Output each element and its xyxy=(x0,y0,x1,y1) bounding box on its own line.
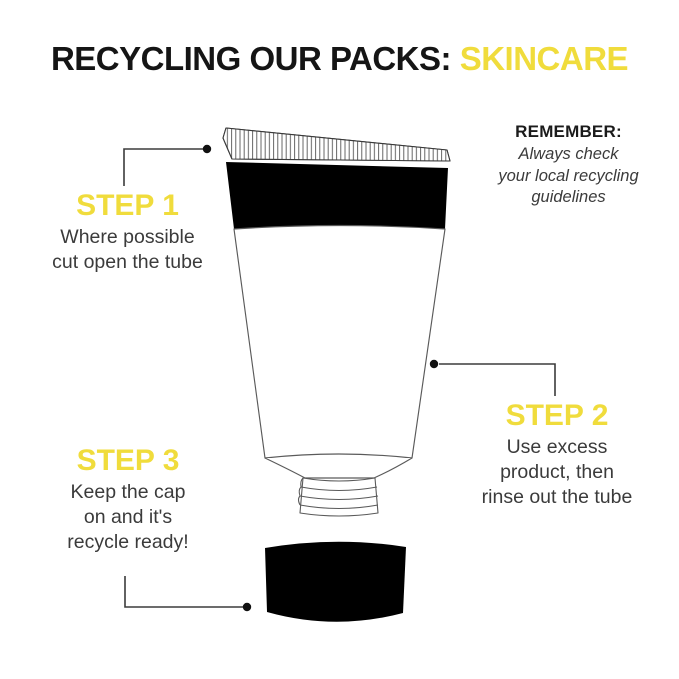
step-3: STEP 3 Keep the cap on and it's recycle … xyxy=(14,445,242,555)
leader-line-step3 xyxy=(125,576,251,611)
tube-body xyxy=(234,226,445,459)
step-1: STEP 1 Where possible cut open the tube xyxy=(10,190,245,275)
tube-crimp-seal xyxy=(218,124,458,166)
step-3-line-1: Keep the cap xyxy=(14,480,242,505)
step-2-line-3: rinse out the tube xyxy=(443,485,671,510)
page-title-accent: SKINCARE xyxy=(460,40,628,77)
step-2-heading: STEP 2 xyxy=(443,400,671,432)
tube-shoulder xyxy=(265,458,412,478)
remember-heading: REMEMBER: xyxy=(466,122,671,142)
infographic-canvas: RECYCLING OUR PACKS: SKINCARE xyxy=(0,0,679,679)
page-title: RECYCLING OUR PACKS: SKINCARE xyxy=(0,40,679,78)
step-3-line-2: on and it's xyxy=(14,505,242,530)
step-3-heading: STEP 3 xyxy=(14,445,242,477)
tube-threaded-neck xyxy=(299,478,379,516)
step-1-line-2: cut open the tube xyxy=(10,250,245,275)
step-2-body: Use excess product, then rinse out the t… xyxy=(443,435,671,510)
packaging-illustration xyxy=(0,0,679,679)
leader-line-step2 xyxy=(430,360,555,396)
step-2-line-2: product, then xyxy=(443,460,671,485)
leader-line-step1 xyxy=(124,145,211,186)
tube-black-band xyxy=(226,162,448,229)
step-2: STEP 2 Use excess product, then rinse ou… xyxy=(443,400,671,510)
step-1-heading: STEP 1 xyxy=(10,190,245,222)
page-title-main: RECYCLING OUR PACKS: xyxy=(51,40,451,77)
remember-line-2: your local recycling xyxy=(466,166,671,187)
remember-line-3: guidelines xyxy=(466,187,671,208)
step-3-line-3: recycle ready! xyxy=(14,530,242,555)
step-3-body: Keep the cap on and it's recycle ready! xyxy=(14,480,242,555)
step-1-body: Where possible cut open the tube xyxy=(10,225,245,275)
step-2-line-1: Use excess xyxy=(443,435,671,460)
step-1-line-1: Where possible xyxy=(10,225,245,250)
remember-body: Always check your local recycling guidel… xyxy=(466,144,671,208)
tube-cap xyxy=(265,542,406,622)
remember-note: REMEMBER: Always check your local recycl… xyxy=(466,122,671,209)
remember-line-1: Always check xyxy=(466,144,671,165)
